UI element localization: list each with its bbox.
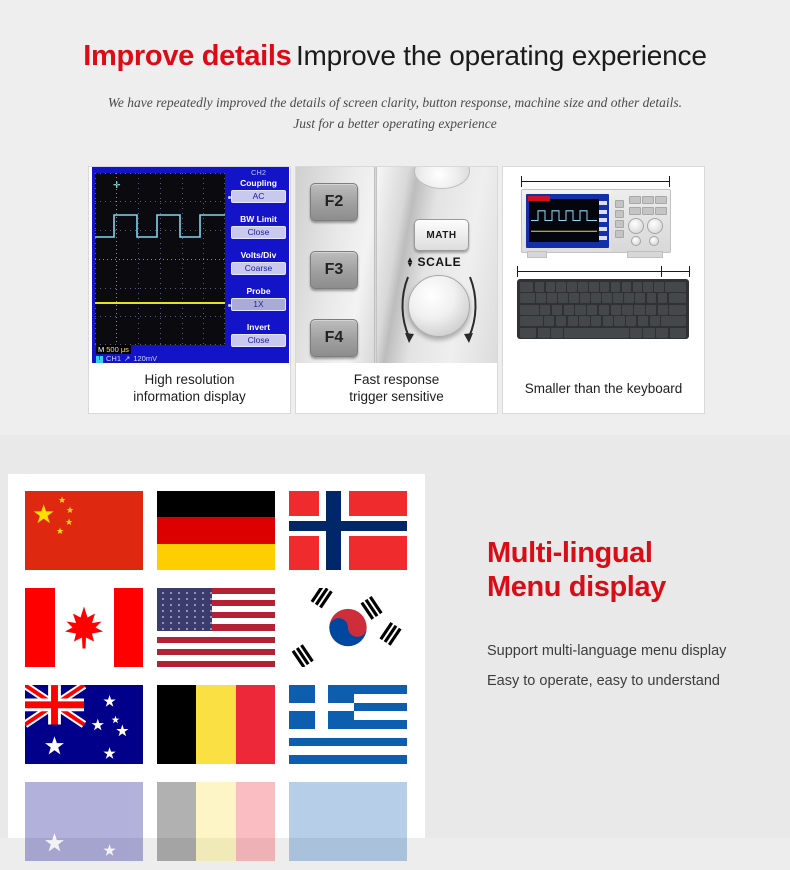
scope-menu-item-coupling[interactable]: Coupling AC xyxy=(228,178,289,203)
feature-card-fast-response: F2 F3 F4 MATH ▲▼ SCALE xyxy=(295,166,498,414)
scope-menu-value: Close xyxy=(231,334,286,347)
trigger-badge: T xyxy=(96,356,103,363)
brand-logo xyxy=(528,196,550,201)
multilingual-title-line-2: Menu display xyxy=(487,571,666,603)
dimension-tick xyxy=(517,266,518,277)
caption-line-2: trigger sensitive xyxy=(349,389,444,404)
feature-card-caption: High resolution information display xyxy=(89,363,290,413)
scale-label-group: ▲▼ SCALE xyxy=(406,255,490,269)
scope-menu-title: CH2 xyxy=(228,168,289,177)
multilingual-title-line-1: Multi-lingual xyxy=(487,537,653,569)
dimension-tick xyxy=(669,176,670,187)
scope-menu-value: AC xyxy=(231,190,286,203)
scope-menu-value: Close xyxy=(231,226,286,239)
flag-canada xyxy=(25,588,143,667)
flag-cell-china: ★ ★ ★ ★ ★ xyxy=(18,482,150,579)
multilingual-copy: Multi-lingual Menu display Support multi… xyxy=(487,536,777,696)
oscilloscope-product-photo xyxy=(521,189,671,253)
product-control-panel xyxy=(611,190,670,252)
flag-cell-norway xyxy=(282,482,414,579)
flag-cell-partial-2 xyxy=(150,773,282,870)
scope-menu-value: Coarse xyxy=(231,262,286,275)
flag-gallery-card: ★ ★ ★ ★ ★ xyxy=(8,474,425,838)
promo-page: Improve details Improve the operating ex… xyxy=(0,0,790,838)
scope-menu-value: 1X xyxy=(231,298,286,311)
flag-greece xyxy=(289,685,407,764)
caption-line-1: Fast response xyxy=(354,372,440,387)
f3-button[interactable]: F3 xyxy=(310,251,358,289)
scope-display: ✛ CH2 Coupling AC BW Limit Close xyxy=(92,167,289,363)
subtitle-line-2: Just for a better operating experience xyxy=(0,113,790,134)
flag-cell-australia xyxy=(18,676,150,773)
product-feet xyxy=(527,251,663,256)
trigger-channel: CH1 xyxy=(106,355,121,363)
oscilloscope-screen-image: ✛ CH2 Coupling AC BW Limit Close xyxy=(89,167,290,363)
feature-card-list: ✛ CH2 Coupling AC BW Limit Close xyxy=(88,166,705,414)
trigger-slope-icon: ↗ xyxy=(124,355,130,363)
flag-cell-partial-1 xyxy=(18,773,150,870)
scope-menu-label: Probe xyxy=(228,286,289,297)
scope-timebase-readout: M 500 μs xyxy=(96,345,131,354)
improve-details-section: Improve details Improve the operating ex… xyxy=(0,0,790,435)
size-comparison-image xyxy=(503,167,704,363)
scope-menu-item-bw-limit[interactable]: BW Limit Close xyxy=(228,214,289,239)
keyboard-photo xyxy=(517,279,689,339)
front-panel-photo: F2 F3 F4 MATH ▲▼ SCALE xyxy=(296,167,497,363)
flag-grid: ★ ★ ★ ★ ★ xyxy=(18,482,415,870)
caption-line-2: information display xyxy=(133,389,246,404)
scope-trigger-readout: T CH1 ↗ 120mV xyxy=(96,355,157,363)
scope-menu-item-volts-div[interactable]: Volts/Div Coarse xyxy=(228,250,289,275)
upper-knob[interactable] xyxy=(414,167,470,189)
flag-partial-australia xyxy=(25,782,143,861)
multilingual-desc-line-1: Support multi-language menu display xyxy=(487,636,777,666)
flag-cell-belgium xyxy=(150,676,282,773)
scope-menu-label: Volts/Div xyxy=(228,250,289,261)
caption-line-1: High resolution xyxy=(144,372,234,387)
title-red: Improve details xyxy=(83,40,291,72)
flag-cell-germany xyxy=(150,482,282,579)
flag-germany xyxy=(157,491,275,570)
f4-button[interactable]: F4 xyxy=(310,319,358,357)
dimension-tick xyxy=(661,266,662,277)
scope-menu-item-probe[interactable]: Probe 1X xyxy=(228,286,289,311)
feature-card-high-resolution: ✛ CH2 Coupling AC BW Limit Close xyxy=(88,166,291,414)
instrument-front-panel: F2 F3 F4 MATH ▲▼ SCALE xyxy=(296,167,497,363)
channel-2-flat-waveform xyxy=(95,173,225,345)
flag-cell-united-states xyxy=(150,579,282,676)
product-screen-menu xyxy=(599,199,607,242)
scale-label: SCALE xyxy=(418,255,462,269)
scope-side-menu: CH2 Coupling AC BW Limit Close xyxy=(228,167,289,363)
flag-belgium xyxy=(157,685,275,764)
title-black: Improve the operating experience xyxy=(296,40,707,71)
scope-waveform-grid: ✛ xyxy=(95,173,225,345)
f2-button[interactable]: F2 xyxy=(310,183,358,221)
page-title: Improve details Improve the operating ex… xyxy=(0,42,790,71)
scope-menu-item-invert[interactable]: Invert Close xyxy=(228,322,289,347)
up-down-arrows-icon: ▲▼ xyxy=(406,257,415,267)
flag-china: ★ ★ ★ ★ ★ xyxy=(25,491,143,570)
scope-width-dimension-line xyxy=(521,181,669,182)
scope-menu-label: Coupling xyxy=(228,178,289,189)
flag-south-korea xyxy=(289,588,407,667)
subtitle-line-1: We have repeatedly improved the details … xyxy=(0,92,790,113)
timebase-prefix: M xyxy=(98,345,104,354)
timebase-value: 500 μs xyxy=(106,345,129,354)
flag-cell-south-korea xyxy=(282,579,414,676)
feature-card-caption: Fast response trigger sensitive xyxy=(296,363,497,413)
rotation-arrows-icon xyxy=(396,271,482,347)
panel-seam xyxy=(374,167,377,363)
page-subtitle: We have repeatedly improved the details … xyxy=(0,92,790,134)
multilingual-title: Multi-lingual Menu display xyxy=(487,536,777,604)
scope-menu-label: BW Limit xyxy=(228,214,289,225)
math-button[interactable]: MATH xyxy=(414,219,469,251)
flag-cell-canada xyxy=(18,579,150,676)
scope-menu-label: Invert xyxy=(228,322,289,333)
flag-cell-partial-3 xyxy=(282,773,414,870)
caption-line-1: Smaller than the keyboard xyxy=(525,380,683,397)
trigger-level: 120mV xyxy=(133,355,157,363)
flag-cell-greece xyxy=(282,676,414,773)
size-comparison-diagram xyxy=(503,167,704,363)
trigger-position-marker: ✛ xyxy=(113,181,121,190)
flag-australia xyxy=(25,685,143,764)
flag-united-states xyxy=(157,588,275,667)
flag-norway xyxy=(289,491,407,570)
dimension-tick xyxy=(689,266,690,277)
feature-card-caption: Smaller than the keyboard xyxy=(503,363,704,413)
keyboard-width-dimension-line xyxy=(517,271,689,272)
flag-partial-belgium xyxy=(157,782,275,861)
dimension-tick xyxy=(521,176,522,187)
product-screen-waveform xyxy=(529,199,599,242)
product-screen xyxy=(526,194,609,248)
feature-card-smaller-than-keyboard: Smaller than the keyboard xyxy=(502,166,705,414)
flag-partial-greece xyxy=(289,782,407,861)
multilingual-desc-line-2: Easy to operate, easy to understand xyxy=(487,666,777,696)
